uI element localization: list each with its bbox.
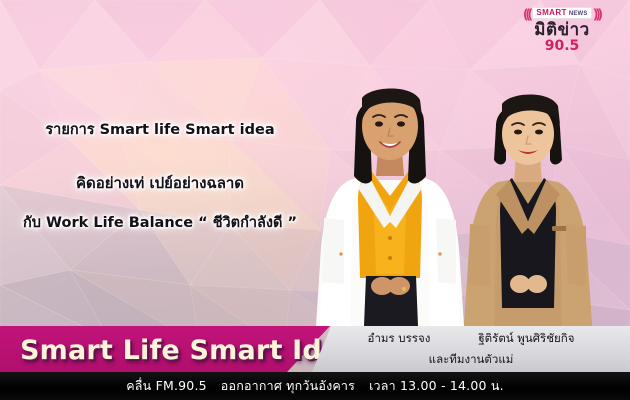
program-title: Smart Life Smart Idea	[20, 335, 359, 366]
news-word: NEWS	[569, 11, 588, 17]
footer-time: เวลา 13.00 - 14.00 น.	[369, 376, 504, 396]
headline-block: รายการ Smart life Smart idea คิดอย่างเท่…	[0, 118, 320, 234]
headline-line-3: กับ Work Life Balance “ ชีวิตกำลังดี ”	[0, 211, 320, 234]
promo-poster: ((( SMART NEWS ))) มิติข่าว 90.5	[0, 0, 630, 400]
smart-news-badge: SMART NEWS	[532, 7, 591, 19]
host-names-strip: อำมร บรรจง ฐิติรัตน์ พูนศิริชัยกิจ และที…	[312, 326, 630, 372]
broadcast-info-bar: คลื่น FM.90.5 ออกอากาศ ทุกวันอังคาร เวลา…	[0, 372, 630, 400]
host-names-row: อำมร บรรจง ฐิติรัตน์ พูนศิริชัยกิจ	[368, 330, 575, 348]
left-paren-icon: (((	[523, 7, 530, 20]
station-thai-name: มิติข่าว	[506, 22, 618, 39]
host-team-line: และทีมงานตัวแม่	[429, 351, 514, 369]
smart-news-wordmark: ((( SMART NEWS )))	[506, 6, 618, 20]
right-paren-icon: )))	[594, 7, 601, 20]
host-name-right: ฐิติรัตน์ พูนศิริชัยกิจ	[478, 330, 574, 348]
headline-line-2: คิดอย่างเท่ เปย์อย่างฉลาด	[0, 171, 320, 195]
footer-wave: คลื่น FM.90.5	[126, 376, 207, 396]
host-photo-right	[452, 78, 604, 328]
smart-word: SMART	[536, 9, 566, 17]
station-frequency: 90.5	[506, 39, 618, 53]
headline-line-1: รายการ Smart life Smart idea	[0, 118, 320, 141]
host-name-left: อำมร บรรจง	[368, 330, 431, 348]
footer-broadcast: ออกอากาศ ทุกวันอังคาร	[221, 376, 355, 396]
station-logo: ((( SMART NEWS ))) มิติข่าว 90.5	[506, 6, 618, 53]
